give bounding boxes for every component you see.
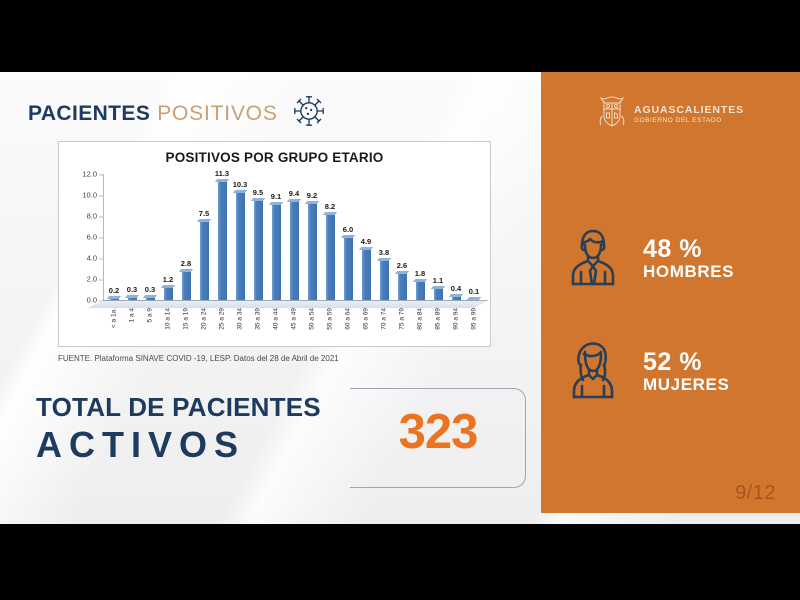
chart-x-tick-label: 80 a 84: [417, 308, 424, 330]
chart-y-tick: 2.0: [87, 275, 97, 284]
stat-label-hombres: HOMBRES: [643, 263, 734, 281]
chart-x-slot: 95 a 99: [465, 308, 483, 344]
chart-x-tick-label: 60 a 64: [345, 308, 352, 330]
chart-bar-slot: 8.2: [321, 174, 339, 300]
chart-x-slot: 30 a 34: [231, 308, 249, 344]
chart-x-slot: 25 a 29: [213, 308, 231, 344]
chart-x-tick-label: 75 a 79: [399, 308, 406, 330]
woman-avatar-icon: [565, 339, 621, 406]
chart-bar-label: 1.1: [433, 276, 443, 285]
chart-y-tick: 10.0: [82, 191, 97, 200]
chart-bar-slot: 4.9: [357, 174, 375, 300]
chart-x-axis: < a 1a.1 a 45 a 910 a 1415 a 1920 a 2425…: [105, 308, 483, 344]
chart-y-axis: 0.02.04.06.08.010.012.0: [59, 174, 103, 300]
chart-x-tick-label: 25 a 29: [219, 308, 226, 330]
chart-x-tick-label: 70 a 74: [381, 308, 388, 330]
stat-percent-hombres: 48 %: [643, 236, 734, 263]
chart-x-tick-label: 45 a 49: [291, 308, 298, 330]
chart-bar-label: 0.2: [109, 286, 119, 295]
chart-bar: [344, 237, 353, 300]
chart-bar-label: 10.3: [233, 180, 248, 189]
page-number: 9/12: [735, 482, 776, 505]
chart-x-tick-label: 15 a 19: [183, 308, 190, 330]
chart-bar-label: 9.5: [253, 188, 263, 197]
chart-bar-slot: 11.3: [213, 174, 231, 300]
government-logo: AGUASCALIENTES GOBIERNO DEL ESTADO: [541, 94, 800, 135]
chart-bar-label: 9.4: [289, 189, 299, 198]
chart-bar-label: 8.2: [325, 202, 335, 211]
chart-x-tick-label: 10 a 14: [165, 308, 172, 330]
chart-bar: [182, 271, 191, 300]
chart-bar-slot: 9.4: [285, 174, 303, 300]
chart-bar-slot: 2.8: [177, 174, 195, 300]
chart-x-tick-label: 65 a 69: [363, 308, 370, 330]
chart-bar-slot: 1.2: [159, 174, 177, 300]
chart-bar-label: 11.3: [215, 169, 229, 178]
chart-x-tick-label: 95 a 99: [471, 308, 478, 330]
chart-x-tick-label: 85 a 89: [435, 308, 442, 330]
chart-bar-label: 7.5: [199, 209, 209, 218]
chart-bars: 0.20.30.31.22.87.511.310.39.59.19.49.28.…: [105, 174, 483, 300]
gov-name: AGUASCALIENTES: [634, 105, 744, 116]
chart-x-tick-label: 20 a 24: [201, 308, 208, 330]
chart-x-tick-label: 40 a 44: [273, 308, 280, 330]
chart-plot-area: 0.20.30.31.22.87.511.310.39.59.19.49.28.…: [105, 174, 483, 300]
chart-bar-label: 4.9: [361, 237, 371, 246]
chart-bar-label: 0.4: [451, 284, 461, 293]
chart-bar-label: 3.8: [379, 248, 389, 257]
chart-bar-slot: 7.5: [195, 174, 213, 300]
slide-viewer: PACIENTES POSITIVOS: [0, 0, 800, 600]
chart-bar-slot: 2.6: [393, 174, 411, 300]
chart-bar-slot: 10.3: [231, 174, 249, 300]
letterbox-top: [0, 0, 800, 72]
gov-subtitle: GOBIERNO DEL ESTADO: [634, 117, 744, 124]
chart-y-tick: 6.0: [87, 233, 97, 242]
chart-bar-slot: 0.4: [447, 174, 465, 300]
chart-bar-label: 1.8: [415, 269, 425, 278]
page-title-bold: PACIENTES: [28, 102, 150, 126]
chart-x-tick-label: 5 a 9: [147, 308, 154, 322]
chart-x-slot: 1 a 4: [123, 308, 141, 344]
slide-header: PACIENTES POSITIVOS: [28, 94, 326, 133]
stat-row-hombres: 48 % HOMBRES: [565, 217, 785, 301]
chart-bar: [254, 200, 263, 300]
total-label-line1: TOTAL DE PACIENTES: [36, 392, 321, 423]
chart-bar-label: 9.2: [307, 191, 317, 200]
chart-bar-slot: 3.8: [375, 174, 393, 300]
chart-bar-slot: 9.5: [249, 174, 267, 300]
chart-x-slot: 15 a 19: [177, 308, 195, 344]
chart-bar-label: 9.1: [271, 192, 281, 201]
chart-bar-label: 0.3: [127, 285, 137, 294]
chart-bar: [326, 214, 335, 300]
chart-bar-slot: 6.0: [339, 174, 357, 300]
chart-y-tick: 8.0: [87, 212, 97, 221]
chart-x-tick-label: 50 a 54: [309, 308, 316, 330]
chart-bar-slot: 9.1: [267, 174, 285, 300]
chart-bar: [164, 287, 173, 300]
chart-x-tick-label: 30 a 34: [237, 308, 244, 330]
chart-x-slot: 45 a 49: [285, 308, 303, 344]
stat-row-mujeres: 52 % MUJERES: [565, 330, 785, 414]
chart-bar-label: 0.3: [145, 285, 155, 294]
left-content-column: PACIENTES POSITIVOS: [0, 72, 541, 524]
chart-bar: [236, 192, 245, 300]
stat-text-mujeres: 52 % MUJERES: [643, 349, 729, 394]
chart-bar-label: 2.6: [397, 261, 407, 270]
chart-x-slot: 75 a 79: [393, 308, 411, 344]
chart-x-slot: 40 a 44: [267, 308, 285, 344]
chart-bar-slot: 1.8: [411, 174, 429, 300]
chart-x-slot: 90 a 94: [447, 308, 465, 344]
government-logo-text: AGUASCALIENTES GOBIERNO DEL ESTADO: [634, 105, 744, 123]
chart-bar-label: 1.2: [163, 275, 173, 284]
stat-label-mujeres: MUJERES: [643, 376, 729, 394]
chart-x-slot: 55 a 59: [321, 308, 339, 344]
chart-x-slot: 10 a 14: [159, 308, 177, 344]
total-active-patients-block: TOTAL DE PACIENTES ACTIVOS 323: [30, 390, 500, 488]
chart-x-slot: 85 a 89: [429, 308, 447, 344]
presentation-slide: PACIENTES POSITIVOS: [0, 72, 800, 524]
chart-bar: [398, 273, 407, 300]
chart-source-note: FUENTE. Plataforma SINAVE COVID -19, LES…: [58, 354, 339, 363]
chart-x-tick-label: 90 a 94: [453, 308, 460, 330]
chart-bar: [272, 204, 281, 300]
man-avatar-icon: [565, 226, 621, 293]
chart-x-tick-label: 1 a 4: [129, 308, 136, 322]
page-title-light: POSITIVOS: [157, 102, 277, 126]
chart-x-axis-line: [103, 300, 481, 301]
stat-percent-mujeres: 52 %: [643, 349, 729, 376]
chart-bar: [308, 203, 317, 300]
chart-x-tick-label: 55 a 59: [327, 308, 334, 330]
chart-x-slot: 65 a 69: [357, 308, 375, 344]
chart-card: POSITIVOS POR GRUPO ETARIO 0.02.04.06.08…: [58, 141, 491, 347]
chart-x-tick-label: 35 a 39: [255, 308, 262, 330]
chart-bar: [218, 181, 227, 300]
chart-bar: [290, 201, 299, 300]
chart-bar-slot: 0.1: [465, 174, 483, 300]
chart-bar-slot: 0.2: [105, 174, 123, 300]
chart-x-slot: 20 a 24: [195, 308, 213, 344]
stat-text-hombres: 48 % HOMBRES: [643, 236, 734, 281]
chart-bar-slot: 1.1: [429, 174, 447, 300]
chart-x-slot: < a 1a.: [105, 308, 123, 344]
total-label-line2: ACTIVOS: [36, 424, 245, 466]
chart-x-slot: 70 a 74: [375, 308, 393, 344]
chart-bar-slot: 9.2: [303, 174, 321, 300]
total-value: 323: [358, 404, 518, 460]
chart-y-axis-line: [103, 174, 104, 300]
chart-bar: [362, 249, 371, 300]
chart-bar-slot: 0.3: [141, 174, 159, 300]
chart-title: POSITIVOS POR GRUPO ETARIO: [59, 150, 490, 165]
chart-bar-label: 2.8: [181, 259, 191, 268]
chart-y-tick: 12.0: [82, 170, 97, 179]
coronavirus-icon: [292, 94, 326, 133]
letterbox-bottom: [0, 524, 800, 600]
chart-floor-3d: [88, 300, 489, 308]
chart-x-slot: 50 a 54: [303, 308, 321, 344]
chart-bar: [434, 288, 443, 300]
chart-bar: [200, 221, 209, 300]
chart-bar-label: 0.1: [469, 287, 479, 296]
chart-x-slot: 80 a 84: [411, 308, 429, 344]
chart-x-slot: 35 a 39: [249, 308, 267, 344]
right-orange-panel: AGUASCALIENTES GOBIERNO DEL ESTADO: [541, 72, 800, 513]
chart-bar: [380, 260, 389, 300]
chart-bar-label: 6.0: [343, 225, 353, 234]
chart-bar: [416, 281, 425, 300]
chart-bar-slot: 0.3: [123, 174, 141, 300]
chart-x-tick-label: < a 1a.: [111, 308, 118, 328]
coat-of-arms-icon: [597, 94, 627, 135]
chart-x-slot: 60 a 64: [339, 308, 357, 344]
chart-x-slot: 5 a 9: [141, 308, 159, 344]
chart-y-tick: 4.0: [87, 254, 97, 263]
